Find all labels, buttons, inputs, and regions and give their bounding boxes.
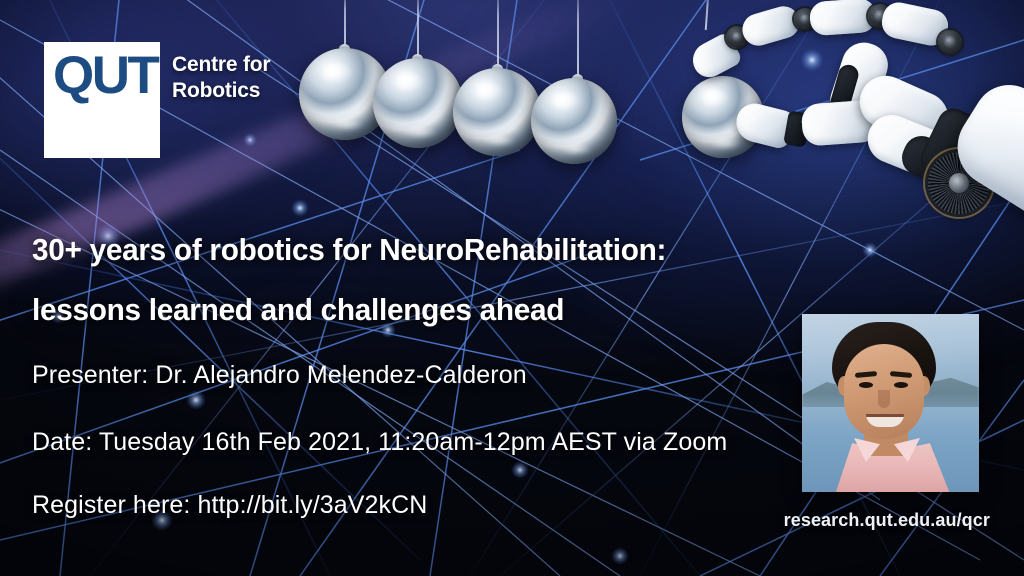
presenter-line: Presenter: Dr. Alejandro Melendez-Calder… [32,361,527,390]
robot-joint-middle-2 [938,30,962,54]
centre-for-robotics-label: Centre for Robotics [172,52,270,103]
register-line[interactable]: Register here: http://bit.ly/3aV2kCN [32,491,427,520]
centre-label-line-2: Robotics [172,78,270,104]
qut-logo: QUT [44,42,160,158]
robot-finger-index-mid [739,3,804,50]
headshot-eye-left [859,382,873,388]
qut-logo-text: QUT [53,49,157,102]
cradle-string-3 [497,0,499,66]
centre-label-line-1: Centre for [172,52,270,78]
date-line: Date: Tuesday 16th Feb 2021, 11:20am-12p… [32,428,727,457]
robot-hand-graphic [690,0,1024,318]
cradle-string-1 [344,0,346,46]
cradle-ball-3 [453,68,541,156]
seminar-title-line-1: 30+ years of robotics for NeuroRehabilit… [32,232,666,268]
robot-finger-index-base [809,0,877,36]
cradle-string-2 [417,0,419,56]
presenter-headshot [802,314,979,492]
cradle-ball-4 [531,78,617,164]
cradle-string-4 [577,0,579,76]
headshot-eye-right [894,382,908,388]
website-url[interactable]: research.qut.edu.au/qcr [784,510,990,531]
seminar-title-line-2: lessons learned and challenges ahead [32,292,564,328]
seminar-slide: QUT Centre for Robotics 30+ years of rob… [0,0,1024,576]
headshot-nose [878,390,890,408]
cradle-ball-2 [373,58,463,148]
